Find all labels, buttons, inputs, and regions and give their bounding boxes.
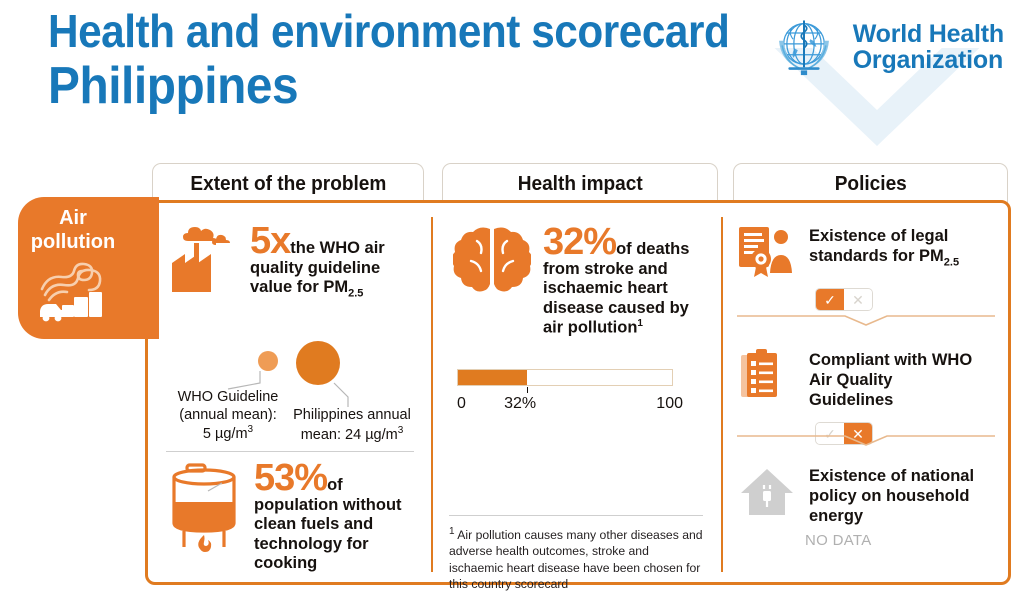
- country-mean-label: Philippines annual mean: 24 µg/m3: [282, 407, 422, 444]
- extent-divider: [166, 451, 414, 452]
- stat-clean-fuels-of: of: [327, 476, 343, 494]
- column-health-impact: 32%of deaths from stroke and ischaemic h…: [433, 203, 721, 582]
- category-label-line1: Air: [18, 207, 128, 231]
- who-guideline-label-line2: (annual mean):: [160, 407, 296, 425]
- stat-deaths-value: 32%: [543, 221, 616, 263]
- page-title-line1: Health and environment scorecard: [48, 4, 729, 58]
- policy-label-who-compliance: Compliant with WHO Air Quality Guideline…: [809, 349, 981, 413]
- category-tab-label: Air pollution: [18, 207, 128, 254]
- who-emblem-icon: [765, 8, 843, 86]
- stat-clean-fuels: 53%of population without clean fuels and…: [164, 461, 406, 574]
- progress-label-min: 0: [457, 395, 466, 413]
- policy-label-text: Existence of legal standards for PM: [809, 227, 948, 265]
- deaths-progress-chart: 0 32% 100: [457, 369, 673, 415]
- clipboard-icon: [737, 349, 799, 403]
- progress-label-value: 32%: [504, 395, 536, 413]
- house-plug-icon: [737, 465, 799, 519]
- country-mean-label-line1: Philippines annual: [282, 407, 422, 425]
- progress-bar-tick: [527, 387, 528, 393]
- policy-divider-2: [737, 433, 995, 447]
- who-guideline-value: 5 µg/m3: [160, 424, 296, 444]
- who-guideline-circle: [258, 351, 278, 371]
- cooking-pot-icon: [164, 461, 248, 557]
- column-tabs: Extent of the problem Health impact Poli…: [150, 163, 1010, 203]
- tab-extent-label: Extent of the problem: [190, 172, 386, 196]
- country-mean-circle: [296, 341, 340, 385]
- tab-policies[interactable]: Policies: [733, 163, 1008, 203]
- certificate-person-icon: [737, 225, 799, 279]
- policy-label-household-energy: Existence of national policy on househol…: [809, 465, 981, 526]
- stat-clean-fuels-description: population without clean fuels and techn…: [254, 496, 406, 574]
- footnote-text: Air pollution causes many other diseases…: [449, 528, 703, 591]
- policy-item-legal-standards: Existence of legal standards for PM2.5 ✓…: [737, 225, 999, 311]
- who-logo: World Health Organization: [765, 8, 1004, 86]
- stat-deaths-from-air-pollution: 32%of deaths from stroke and ischaemic h…: [453, 223, 693, 338]
- stat-multiplier-value: 5x: [250, 220, 290, 262]
- tab-health-label: Health impact: [517, 172, 642, 196]
- policy-row: Existence of national policy on househol…: [737, 465, 999, 526]
- country-mean-value-text: mean: 24 µg/m: [301, 427, 398, 443]
- policy-status-no-data: NO DATA: [805, 532, 999, 549]
- stat-multiplier-subscript: 2.5: [348, 288, 363, 300]
- policy-divider-1: [737, 313, 995, 327]
- stat-deaths-footnote-marker: 1: [637, 318, 643, 329]
- stat-deaths-lead: of deaths: [616, 240, 689, 258]
- smoke-vehicle-buildings-icon: [36, 259, 110, 325]
- stat-clean-fuels-text: 53%of population without clean fuels and…: [254, 461, 406, 574]
- policy-label-text: Compliant with WHO Air Quality Guideline…: [809, 351, 972, 409]
- stat-deaths-text: 32%of deaths from stroke and ischaemic h…: [543, 223, 693, 338]
- page-title-country: Philippines: [48, 56, 298, 116]
- factory-icon: [166, 223, 240, 297]
- who-guideline-unit-exponent: 3: [248, 424, 254, 435]
- tab-policies-label: Policies: [834, 172, 906, 196]
- annual-mean-comparison: WHO Guideline (annual mean): 5 µg/m3 Phi…: [162, 341, 418, 445]
- stat-who-guideline-multiplier: 5xthe WHO air quality guideline value fo…: [166, 223, 410, 301]
- category-tab-air-pollution[interactable]: Air pollution: [18, 197, 158, 339]
- stat-clean-fuels-value: 53%: [254, 457, 327, 499]
- who-wordmark-line1: World Health: [853, 21, 1004, 47]
- tab-health-impact[interactable]: Health impact: [442, 163, 718, 203]
- country-mean-unit-exponent: 3: [398, 425, 404, 436]
- stat-multiplier-text: 5xthe WHO air quality guideline value fo…: [250, 223, 410, 301]
- progress-axis-labels: 0 32% 100: [457, 395, 673, 415]
- policy-toggle-yes[interactable]: ✓: [816, 289, 844, 310]
- health-footnote: 1 Air pollution causes many other diseas…: [449, 525, 705, 592]
- who-guideline-label: WHO Guideline (annual mean): 5 µg/m3: [160, 389, 296, 444]
- footnote-marker: 1: [449, 526, 455, 537]
- policy-label-legal-standards: Existence of legal standards for PM2.5: [809, 225, 981, 269]
- policy-item-who-compliance: Compliant with WHO Air Quality Guideline…: [737, 349, 999, 445]
- policy-toggle-no[interactable]: ✕: [844, 289, 872, 310]
- who-guideline-label-line1: WHO Guideline: [160, 389, 296, 407]
- page-header: Health and environment scorecard Philipp…: [0, 0, 1024, 150]
- who-guideline-value-text: 5 µg/m: [203, 426, 248, 442]
- column-extent-of-the-problem: 5xthe WHO air quality guideline value fo…: [148, 203, 431, 582]
- progress-bar-track: [457, 369, 673, 386]
- who-wordmark-line2: Organization: [853, 47, 1004, 73]
- progress-label-max: 100: [656, 395, 683, 413]
- brain-icon: [453, 223, 531, 305]
- tab-extent-of-the-problem[interactable]: Extent of the problem: [152, 163, 424, 203]
- who-wordmark: World Health Organization: [853, 21, 1004, 73]
- footnote-divider: [449, 515, 703, 516]
- progress-bar-fill: [458, 370, 527, 385]
- column-policies: Existence of legal standards for PM2.5 ✓…: [723, 203, 1011, 582]
- policy-toggle-legal-standards[interactable]: ✓ ✕: [815, 288, 873, 311]
- policy-row: Existence of legal standards for PM2.5: [737, 225, 999, 279]
- stat-deaths-description: from stroke and ischaemic heart disease …: [543, 260, 693, 338]
- policy-item-household-energy: Existence of national policy on househol…: [737, 465, 999, 549]
- country-mean-value: mean: 24 µg/m3: [282, 425, 422, 445]
- category-label-line2: pollution: [18, 231, 128, 255]
- policy-label-subscript: 2.5: [944, 256, 959, 268]
- policy-row: Compliant with WHO Air Quality Guideline…: [737, 349, 999, 413]
- scorecard-panel: 5xthe WHO air quality guideline value fo…: [145, 200, 1011, 585]
- stat-deaths-description-text: from stroke and ischaemic heart disease …: [543, 260, 689, 337]
